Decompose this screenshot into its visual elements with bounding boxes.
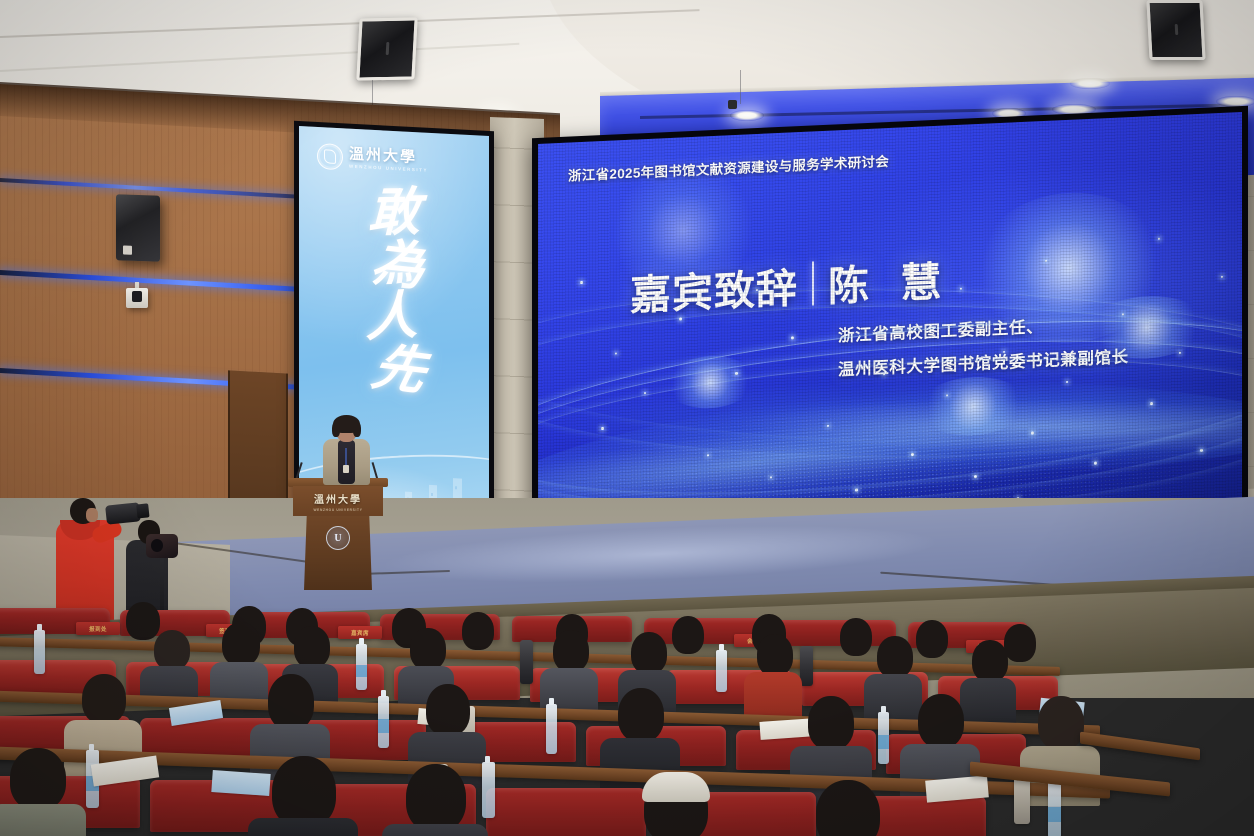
title-divider	[812, 261, 814, 305]
wall-speaker-icon	[116, 194, 160, 262]
person-head	[294, 626, 330, 668]
main-led-screen: 浙江省2025年图书馆文献资源建设与服务学术研讨会 嘉宾致辞 陈 慧 浙江省高校…	[532, 106, 1248, 559]
person-head	[877, 636, 913, 678]
person-head	[268, 674, 314, 730]
person-body	[382, 824, 488, 836]
speaker-affiliation: 浙江省高校图工委副主任、 温州医科大学图书馆党委书记兼副馆长	[838, 309, 1129, 380]
person-head	[426, 684, 470, 736]
podium-nameplate: 溫州大學 WENZHOU UNIVERSITY	[293, 486, 383, 516]
ceiling-sensor-icon	[728, 100, 737, 109]
podium-emblem-icon: U	[326, 526, 350, 550]
calligraphy-char: 先	[368, 343, 430, 398]
person-head	[410, 628, 446, 670]
audience-person-with-cap	[620, 774, 732, 836]
water-bottle	[716, 650, 727, 692]
person-head	[631, 632, 667, 674]
wave-graphic	[538, 375, 1242, 477]
person-head	[1038, 696, 1084, 750]
affiliation-line-2: 温州医科大学图书馆党委书记兼副馆长	[838, 343, 1129, 380]
water-bottle	[356, 644, 367, 690]
audience-area: 报到处 签到处 嘉宾席 会务组 报到处	[0, 600, 1254, 836]
ceiling-speaker-icon-right	[1146, 0, 1205, 60]
calligraphy-char: 為	[368, 239, 429, 294]
audience-person	[672, 616, 704, 656]
auditorium-scene: 溫州大學 WENZHOU UNIVERSITY 敢 為 人 先	[0, 0, 1254, 836]
water-bottle	[878, 712, 889, 764]
lectern-podium: 溫州大學 WENZHOU UNIVERSITY U	[292, 478, 384, 590]
water-bottle	[34, 630, 45, 674]
screen-glow-blob	[918, 375, 1028, 438]
person-head	[757, 634, 793, 676]
audience-person	[140, 630, 198, 700]
podium-name-en: WENZHOU UNIVERSITY	[313, 508, 362, 512]
person-body	[0, 804, 86, 836]
person-head	[154, 630, 190, 670]
camera-icon	[105, 502, 141, 524]
person-head	[406, 764, 466, 832]
person-head	[972, 640, 1008, 682]
audience-person	[382, 764, 488, 836]
calligraphy-motto: 敢 為 人 先	[299, 184, 489, 400]
speaker-hair-side	[332, 422, 340, 437]
speaker-at-podium	[320, 418, 372, 484]
person-head	[553, 630, 589, 672]
calligraphy-char: 人	[364, 292, 417, 345]
calligraphy-char: 敢	[368, 188, 421, 239]
university-name-cn: 溫州大學	[349, 146, 428, 165]
speaker-name: 陈 慧	[828, 247, 951, 313]
person-head	[618, 688, 664, 742]
person-head	[672, 616, 704, 654]
badge-icon	[343, 465, 349, 473]
audience-person	[540, 630, 598, 708]
emblem-letter: U	[334, 533, 341, 544]
presentation-title-row: 嘉宾致辞 陈 慧	[630, 247, 951, 322]
audience-person	[248, 756, 358, 836]
ceiling-speaker-icon	[356, 17, 417, 80]
person-head	[462, 612, 494, 650]
presentation-header: 浙江省2025年图书馆文献资源建设与服务学术研讨会	[568, 150, 889, 185]
ceiling-wire	[740, 70, 741, 104]
audience-person	[900, 694, 980, 790]
university-seal-icon	[317, 143, 343, 170]
audience-person	[792, 780, 904, 836]
baseball-cap	[642, 772, 710, 802]
lanyard	[345, 448, 347, 466]
person-head	[808, 696, 854, 750]
affiliation-line-1: 浙江省高校图工委副主任、	[838, 309, 1129, 346]
water-bottle	[546, 704, 557, 754]
screen-glow-blob	[665, 354, 755, 410]
speaker-hair-side	[353, 422, 361, 437]
thermos-flask	[520, 640, 533, 684]
water-bottle	[378, 696, 389, 748]
podium-name-cn: 溫州大學	[314, 491, 362, 506]
person-head	[918, 694, 964, 748]
audience-person	[462, 612, 494, 652]
water-bottle	[1048, 782, 1061, 836]
presentation-title: 嘉宾致辞	[630, 254, 798, 322]
security-camera-icon	[126, 288, 148, 308]
person-head	[222, 622, 260, 666]
audience-person	[0, 748, 86, 836]
table-nameplate: 报到处	[76, 622, 120, 635]
tripod-camera-icon	[146, 534, 178, 558]
person-head	[10, 748, 66, 810]
downlight-icon	[1070, 78, 1110, 89]
person-body	[248, 818, 358, 836]
photographer-face	[86, 508, 98, 522]
person-head	[816, 780, 880, 836]
person-head	[82, 674, 126, 724]
downlight-icon	[730, 110, 764, 121]
